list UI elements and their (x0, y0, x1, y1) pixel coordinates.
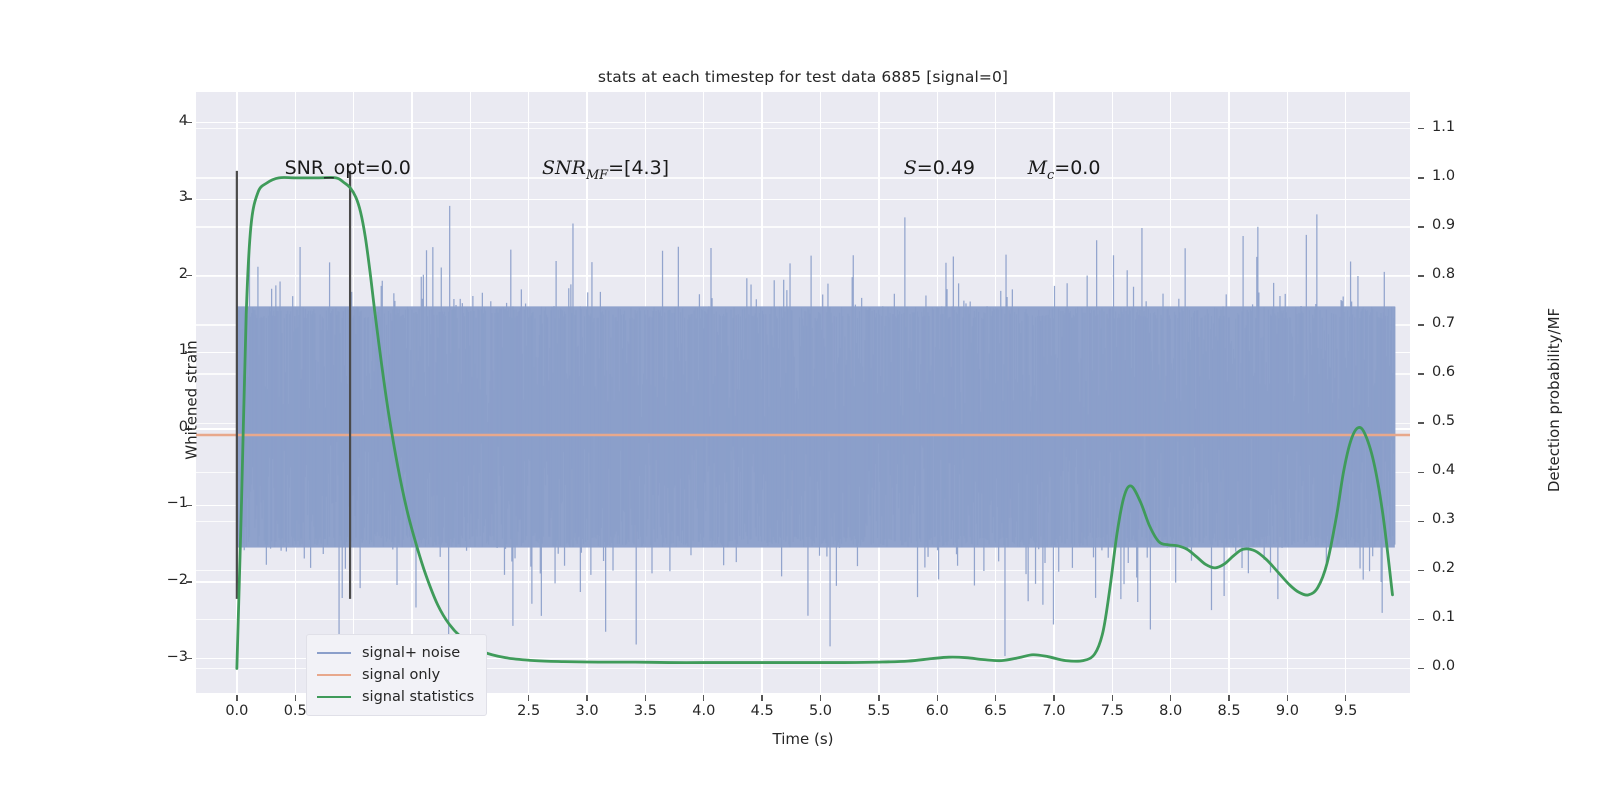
y-tick-mark-right (1418, 128, 1424, 129)
x-tick-label: 7.0 (1024, 703, 1084, 719)
y-tick-mark-right (1418, 619, 1424, 620)
x-tick-label: 4.0 (674, 703, 734, 719)
y-tick-label-right: 0.2 (1432, 560, 1455, 576)
x-tick-label: 3.0 (557, 703, 617, 719)
y-axis-right-label: Detection probability/MF (1545, 308, 1563, 492)
y-tick-mark-right (1418, 521, 1424, 522)
y-tick-label-right: 1.1 (1432, 119, 1455, 135)
x-tick-label: 2.5 (499, 703, 559, 719)
legend-swatch-icon (317, 696, 351, 698)
chart-legend[interactable]: signal+ noisesignal onlysignal statistic… (306, 634, 487, 716)
plot-area[interactable] (196, 92, 1410, 693)
y-tick-label-right: 0.5 (1432, 413, 1455, 429)
x-tick-mark (820, 695, 821, 701)
y-tick-mark-right (1418, 373, 1424, 374)
x-tick-label: 6.0 (907, 703, 967, 719)
y-tick-mark-left (186, 658, 192, 659)
x-tick-mark (1053, 695, 1054, 701)
y-tick-label-right: 0.4 (1432, 462, 1455, 478)
y-tick-label-left: 2 (0, 266, 188, 282)
x-tick-label: 9.5 (1316, 703, 1376, 719)
y-tick-label-right: 1.0 (1432, 168, 1455, 184)
x-tick-label: 0.0 (207, 703, 267, 719)
y-tick-label-right: 0.7 (1432, 315, 1455, 331)
y-tick-mark-right (1418, 472, 1424, 473)
legend-swatch-icon (317, 674, 351, 676)
annotation-snr-opt: SNR_opt=0.0 (285, 157, 411, 179)
chart-canvas (196, 92, 1410, 693)
y-tick-label-left: −3 (0, 649, 188, 665)
x-tick-mark (761, 695, 762, 701)
y-tick-label-right: 0.6 (1432, 364, 1455, 380)
x-tick-label: 9.0 (1257, 703, 1317, 719)
y-tick-label-right: 0.3 (1432, 511, 1455, 527)
x-tick-label: 5.5 (849, 703, 909, 719)
legend-label: signal+ noise (362, 645, 460, 661)
x-tick-mark (1228, 695, 1229, 701)
y-tick-label-left: −1 (0, 495, 188, 511)
x-tick-label: 7.5 (1082, 703, 1142, 719)
y-tick-mark-right (1418, 668, 1424, 669)
x-tick-label: 4.5 (732, 703, 792, 719)
y-tick-label-left: 1 (0, 342, 188, 358)
signal-noise-series (237, 206, 1395, 656)
y-tick-mark-left (186, 198, 192, 199)
legend-label: signal statistics (362, 689, 474, 705)
annotation-mchirp: Mc=0.0 (1028, 157, 1101, 183)
y-tick-label-left: −2 (0, 572, 188, 588)
legend-swatch-icon (317, 652, 351, 654)
x-tick-label: 8.5 (1199, 703, 1259, 719)
y-tick-mark-right (1418, 324, 1424, 325)
legend-item[interactable]: signal only (317, 664, 474, 686)
x-tick-label: 6.5 (966, 703, 1026, 719)
y-tick-mark-left (186, 275, 192, 276)
annotation-snr-mf: SNRMF=[4.3] (542, 157, 669, 183)
x-tick-mark (1287, 695, 1288, 701)
y-tick-label-left: 4 (0, 113, 188, 129)
legend-label: signal only (362, 667, 440, 683)
y-tick-mark-right (1418, 570, 1424, 571)
x-tick-label: 3.5 (615, 703, 675, 719)
x-tick-label: 5.0 (791, 703, 851, 719)
x-tick-mark (1170, 695, 1171, 701)
x-tick-mark (295, 695, 296, 701)
y-tick-mark-left (186, 581, 192, 582)
annotation-s-stat: S=0.49 (904, 157, 975, 179)
x-tick-mark (995, 695, 996, 701)
y-tick-mark-right (1418, 226, 1424, 227)
x-tick-mark (1345, 695, 1346, 701)
x-tick-mark (586, 695, 587, 701)
y-tick-label-right: 0.0 (1432, 658, 1455, 674)
chart-title: stats at each timestep for test data 688… (196, 68, 1410, 86)
y-tick-label-right: 0.1 (1432, 609, 1455, 625)
y-tick-label-left: 0 (0, 419, 188, 435)
x-tick-mark (236, 695, 237, 701)
x-tick-label: 8.0 (1141, 703, 1201, 719)
y-tick-label-right: 0.8 (1432, 266, 1455, 282)
x-axis-label: Time (s) (196, 730, 1410, 748)
y-tick-mark-left (186, 122, 192, 123)
y-tick-mark-right (1418, 177, 1424, 178)
x-tick-mark (937, 695, 938, 701)
y-tick-mark-right (1418, 275, 1424, 276)
chart-figure: stats at each timestep for test data 688… (0, 0, 1600, 800)
x-tick-mark (1112, 695, 1113, 701)
y-axis-left-label: Whitened strain (183, 340, 201, 459)
y-tick-mark-left (186, 505, 192, 506)
x-tick-mark (645, 695, 646, 701)
x-tick-mark (528, 695, 529, 701)
x-tick-mark (878, 695, 879, 701)
legend-item[interactable]: signal+ noise (317, 642, 474, 664)
y-tick-label-right: 0.9 (1432, 217, 1455, 233)
x-tick-mark (703, 695, 704, 701)
y-tick-mark-right (1418, 422, 1424, 423)
legend-item[interactable]: signal statistics (317, 686, 474, 708)
y-tick-label-left: 3 (0, 189, 188, 205)
